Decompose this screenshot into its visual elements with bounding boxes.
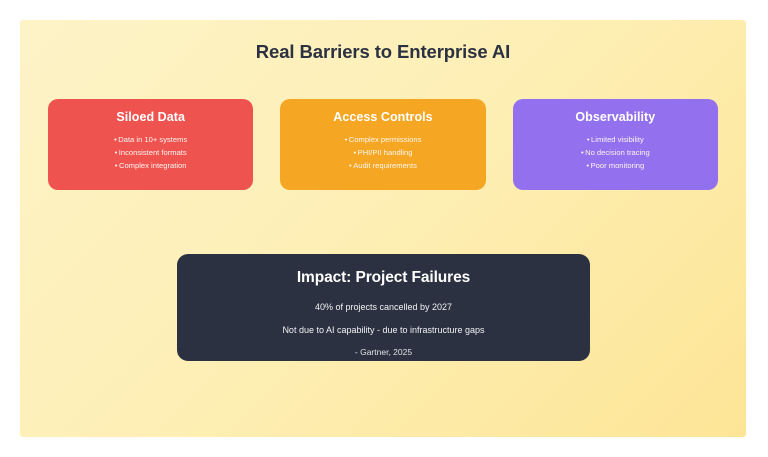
bullet-label: Limited visibility (591, 135, 644, 144)
barrier-bullet-list: •Complex permissions •PHI/PII handling •… (345, 133, 422, 172)
barrier-bullet-list: •Limited visibility •No decision tracing… (581, 133, 650, 172)
bullet-icon: • (115, 161, 118, 170)
list-item: •Audit requirements (345, 159, 422, 172)
barrier-card-title: Siloed Data (116, 110, 185, 124)
list-item: •No decision tracing (581, 146, 650, 159)
bullet-label: Poor monitoring (591, 161, 645, 170)
barrier-bullet-list: •Data in 10+ systems •Inconsistent forma… (114, 133, 187, 172)
list-item: •Limited visibility (581, 133, 650, 146)
bullet-icon: • (587, 135, 590, 144)
barrier-card-siloed-data[interactable]: Siloed Data •Data in 10+ systems •Incons… (48, 99, 253, 190)
impact-stat-line: 40% of projects cancelled by 2027 (315, 301, 452, 313)
page-title: Real Barriers to Enterprise AI (20, 41, 746, 63)
list-item: •Complex integration (114, 159, 187, 172)
list-item: •Poor monitoring (581, 159, 650, 172)
bullet-label: Data in 10+ systems (118, 135, 187, 144)
bullet-label: Complex integration (119, 161, 187, 170)
barrier-card-title: Access Controls (333, 110, 432, 124)
list-item: •Data in 10+ systems (114, 133, 187, 146)
bullet-icon: • (114, 135, 117, 144)
bullet-icon: • (353, 148, 356, 157)
impact-title: Impact: Project Failures (297, 269, 470, 287)
list-item: •Complex permissions (345, 133, 422, 146)
bullet-icon: • (349, 161, 352, 170)
list-item: •Inconsistent formats (114, 146, 187, 159)
bullet-icon: • (345, 135, 348, 144)
barrier-card-observability[interactable]: Observability •Limited visibility •No de… (513, 99, 718, 190)
bullet-icon: • (581, 148, 584, 157)
barrier-card-access-controls[interactable]: Access Controls •Complex permissions •PH… (280, 99, 485, 190)
bullet-label: No decision tracing (585, 148, 650, 157)
bullet-label: Inconsistent formats (119, 148, 187, 157)
bullet-label: PHI/PII handling (358, 148, 413, 157)
barrier-cards-row: Siloed Data •Data in 10+ systems •Incons… (48, 99, 718, 190)
bullet-icon: • (115, 148, 118, 157)
bullet-icon: • (586, 161, 589, 170)
bullet-label: Audit requirements (353, 161, 417, 170)
barrier-card-title: Observability (575, 110, 655, 124)
impact-panel: Impact: Project Failures 40% of projects… (177, 254, 590, 361)
slide-canvas: Real Barriers to Enterprise AI Siloed Da… (20, 20, 746, 437)
list-item: •PHI/PII handling (345, 146, 422, 159)
impact-source-attribution: - Gartner, 2025 (355, 347, 412, 358)
impact-detail-line: Not due to AI capability - due to infras… (282, 324, 484, 336)
bullet-label: Complex permissions (349, 135, 422, 144)
